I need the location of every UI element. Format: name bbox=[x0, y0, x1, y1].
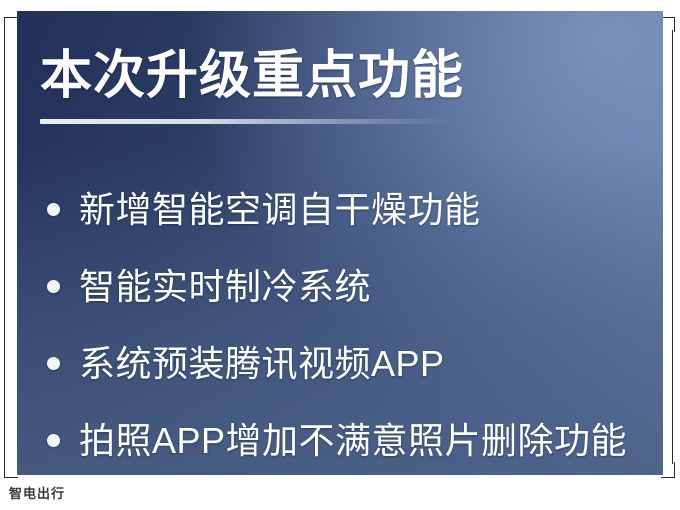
list-item-label: 新增智能空调自干燥功能 bbox=[79, 188, 481, 232]
list-item: 系统预装腾讯视频APP bbox=[17, 325, 663, 402]
frame-corner-top-left bbox=[4, 17, 18, 32]
bullet-dot-icon bbox=[47, 203, 60, 216]
bullet-dot-icon bbox=[47, 280, 60, 293]
bullet-dot-icon bbox=[47, 357, 60, 370]
title-divider bbox=[40, 119, 455, 124]
list-item: 拍照APP增加不满意照片删除功能 bbox=[17, 402, 663, 475]
list-item: 智能实时制冷系统 bbox=[17, 248, 663, 325]
frame-corner-bottom-right bbox=[661, 462, 675, 478]
list-item-label: 智能实时制冷系统 bbox=[79, 265, 371, 309]
slide-title: 本次升级重点功能 bbox=[40, 47, 464, 105]
page-root: 本次升级重点功能 新增智能空调自干燥功能 智能实时制冷系统 系统预装腾讯视频AP… bbox=[0, 0, 680, 510]
frame-rail-left bbox=[4, 30, 5, 464]
list-item-label: 拍照APP增加不满意照片删除功能 bbox=[79, 419, 627, 463]
list-item: 新增智能空调自干燥功能 bbox=[17, 171, 663, 248]
watermark-label: 智电出行 bbox=[9, 487, 65, 503]
list-item-label: 系统预装腾讯视频APP bbox=[79, 342, 445, 386]
feature-bullet-list: 新增智能空调自干燥功能 智能实时制冷系统 系统预装腾讯视频APP 拍照APP增加… bbox=[17, 171, 663, 475]
frame-corner-bottom-left bbox=[4, 462, 18, 478]
slide-panel: 本次升级重点功能 新增智能空调自干燥功能 智能实时制冷系统 系统预装腾讯视频AP… bbox=[17, 11, 663, 475]
bullet-dot-icon bbox=[47, 434, 60, 447]
frame-rail-right bbox=[672, 30, 673, 464]
